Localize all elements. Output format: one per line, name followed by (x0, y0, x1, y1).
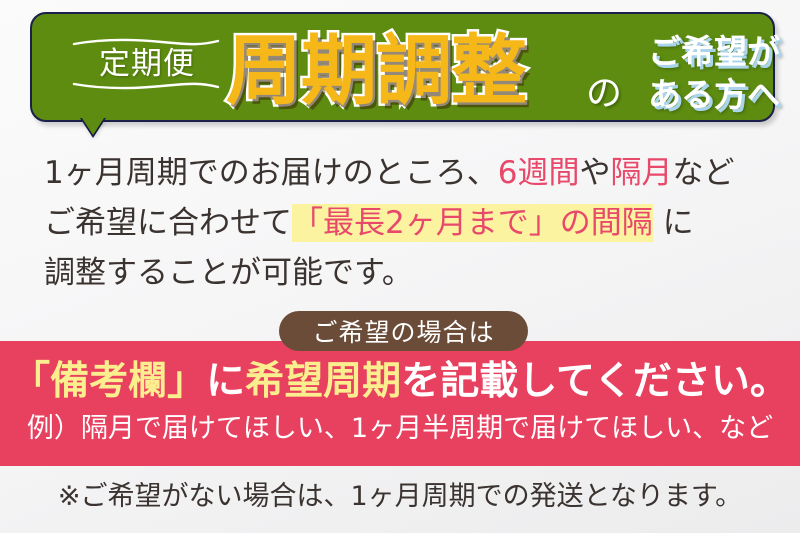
instruction-text-2: を記載してください。 (401, 359, 789, 404)
instruction-accent-2: 希望周期 (245, 359, 401, 404)
body-line1-accent-1: 6週間 (498, 155, 580, 191)
body-line1-accent-2: 隔月 (610, 155, 672, 191)
body-line1-text-b: や (579, 155, 610, 191)
body-line2-text-b: に (653, 205, 694, 241)
header-particle: の (586, 64, 622, 116)
header-bubble: 定期便 周期調整 周期調整 の ご希望が ある方へ (30, 12, 775, 122)
body-line1-text-a: 1ヶ月周期でのお届けのところ、 (44, 155, 498, 191)
body-line-1: 1ヶ月周期でのお届けのところ、6週間や隔月など (44, 148, 764, 198)
header-audience: ご希望が ある方へ (630, 30, 798, 116)
subscription-tag: 定期便 (72, 38, 222, 90)
body-paragraph: 1ヶ月周期でのお届けのところ、6週間や隔月など ご希望に合わせて「最長2ヶ月まで… (44, 148, 764, 298)
header-audience-line1: ご希望が (630, 30, 798, 73)
instruction-example: 例）隔月で届けてほしい、1ヶ月半周期で届けてほしい、など (0, 410, 800, 448)
body-line1-text-c: など (672, 155, 734, 191)
subscription-tag-label: 定期便 (72, 47, 222, 81)
footer-note: ※ご希望がない場合は、1ヶ月周期での発送となります。 (0, 478, 800, 516)
promo-banner: 定期便 周期調整 周期調整 の ご希望が ある方へ 1ヶ月周期でのお届けのところ… (0, 0, 800, 533)
condition-badge: ご希望の場合は (279, 311, 528, 351)
instruction-text-1: に (206, 359, 245, 404)
instruction-banner: 「備考欄」に希望周期を記載してください。 例）隔月で届けてほしい、1ヶ月半周期で… (0, 341, 800, 466)
wave-line-bottom-icon (72, 81, 220, 90)
bubble-tail (82, 118, 104, 135)
body-line2-text-a: ご希望に合わせて (44, 205, 292, 241)
header-title: 周期調整 (226, 28, 526, 114)
instruction-headline: 「備考欄」に希望周期を記載してください。 (0, 359, 800, 405)
body-line-2: ご希望に合わせて「最長2ヶ月まで」の間隔 に (44, 198, 764, 248)
body-line2-highlight: 「最長2ヶ月まで」の間隔 (292, 204, 653, 242)
header-audience-line2: ある方へ (630, 73, 798, 116)
body-line-3: 調整することが可能です。 (44, 248, 764, 298)
instruction-accent-1: 「備考欄」 (11, 359, 206, 404)
